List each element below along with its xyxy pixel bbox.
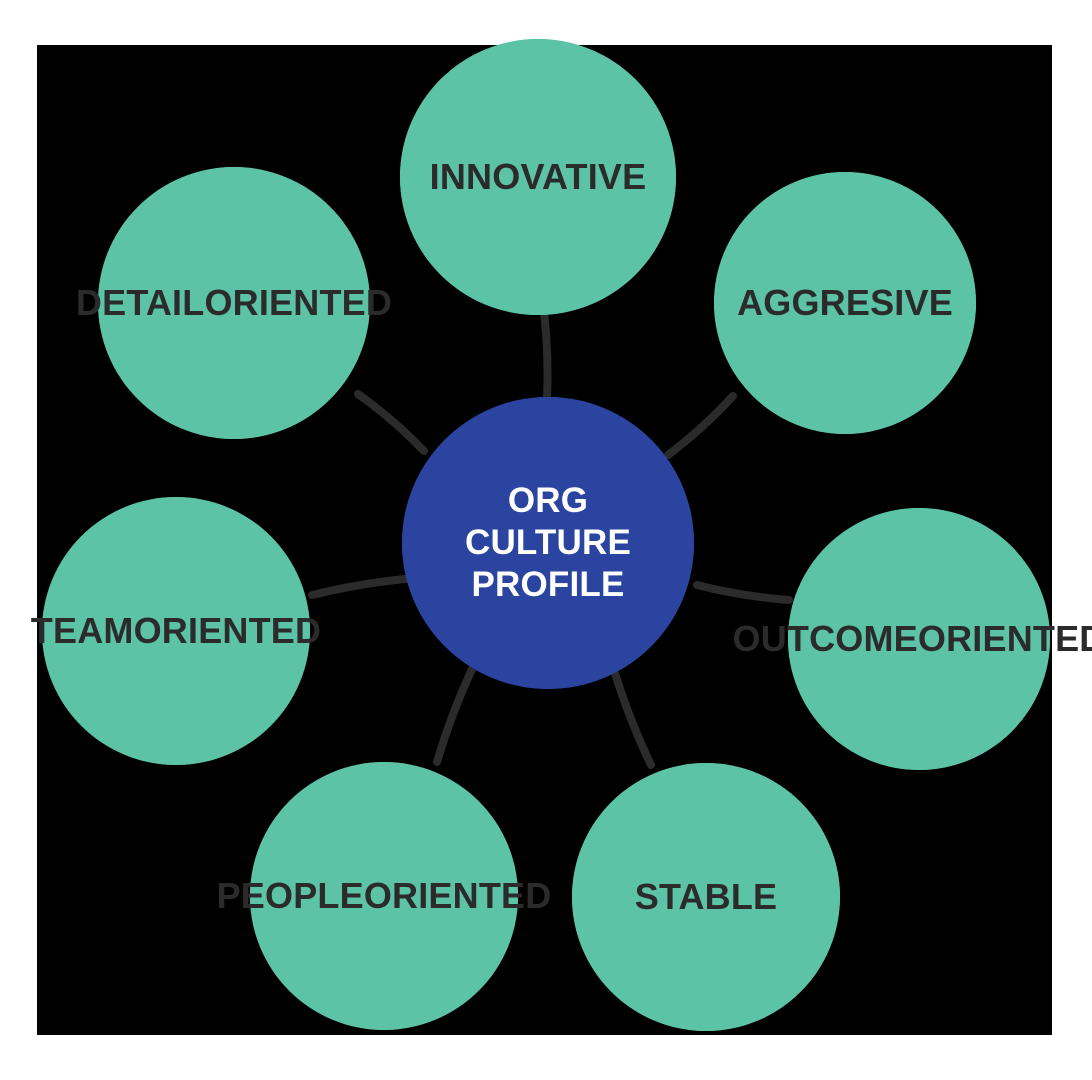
node-label-org-culture-profile: ORGCULTUREPROFILE — [465, 480, 631, 606]
hub-brush-nick — [511, 676, 527, 760]
node-stable[interactable]: STABLE — [572, 763, 840, 1031]
node-aggresive[interactable]: AGGRESIVE — [714, 172, 976, 434]
node-outcome-oriented[interactable]: OUTCOMEORIENTED — [788, 508, 1050, 770]
node-org-culture-profile[interactable]: ORGCULTUREPROFILE — [402, 397, 694, 689]
diagram-canvas: INNOVATIVE AGGRESIVE OUTCOMEORIENTED STA… — [0, 0, 1092, 1080]
node-label-detail-oriented: DETAILORIENTED — [76, 284, 392, 321]
node-innovative[interactable]: INNOVATIVE — [400, 39, 676, 315]
connector-hub-to-aggresive — [668, 396, 733, 455]
node-label-innovative: INNOVATIVE — [430, 158, 647, 195]
connector-hub-to-team-oriented — [312, 578, 415, 595]
connector-hub-to-stable — [613, 667, 651, 765]
node-people-oriented[interactable]: PEOPLEORIENTED — [250, 762, 518, 1030]
connector-hub-to-outcome-oriented — [697, 585, 789, 600]
node-team-oriented[interactable]: TEAMORIENTED — [42, 497, 310, 765]
node-label-aggresive: AGGRESIVE — [737, 284, 953, 321]
node-label-stable: STABLE — [635, 878, 778, 915]
connector-hub-to-people-oriented — [437, 665, 474, 762]
connector-hub-to-innovative — [543, 303, 547, 398]
connector-hub-to-detail-oriented — [358, 394, 424, 451]
node-detail-oriented[interactable]: DETAILORIENTED — [98, 167, 370, 439]
node-label-people-oriented: PEOPLEORIENTED — [217, 877, 552, 914]
node-label-team-oriented: TEAMORIENTED — [31, 612, 321, 649]
